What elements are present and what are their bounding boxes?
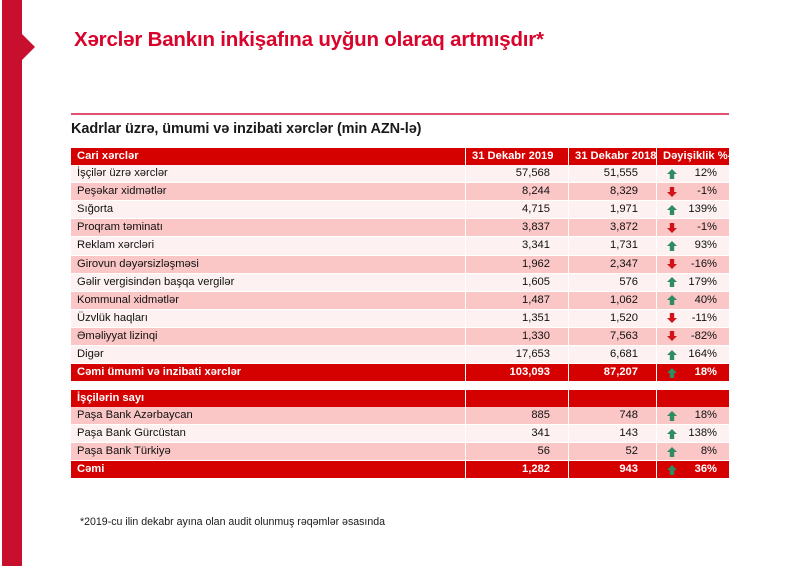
table-row: Reklam xərcləri3,3411,73193% <box>71 237 729 255</box>
total-label: Cəmi <box>71 461 466 478</box>
table-row: Proqram təminatı3,8373,872-1% <box>71 219 729 237</box>
column-header: 31 Dekabr 2018 <box>569 148 657 165</box>
cell-2018: 1,731 <box>569 237 657 255</box>
table-header-row: İşçilərin sayı <box>71 390 729 407</box>
column-header: Cari xərclər <box>71 148 466 165</box>
cell-2019: 1,962 <box>466 256 569 274</box>
left-accent-arrow-icon <box>22 34 35 60</box>
column-header <box>657 390 729 407</box>
cell-2019: 1,351 <box>466 310 569 328</box>
row-label: Proqram təminatı <box>71 219 466 237</box>
change-value: 93% <box>681 237 729 254</box>
cell-change: -1% <box>657 219 729 237</box>
cell-2018: 576 <box>569 274 657 292</box>
cell-2019: 56 <box>466 443 569 461</box>
cell-2018: 1,971 <box>569 201 657 219</box>
cell-2019: 1,330 <box>466 328 569 346</box>
cell-change: 138% <box>657 425 729 443</box>
change-value: -11% <box>681 310 729 327</box>
section-heading: Kadrlar üzrə, ümumi və inzibati xərclər … <box>71 121 421 137</box>
cell-2018: 6,681 <box>569 346 657 364</box>
column-header: İşçilərin sayı <box>71 390 466 407</box>
cell-change: 18% <box>657 407 729 425</box>
arrow-up-icon <box>663 428 681 440</box>
total-label: Cəmi ümumi və inzibati xərclər <box>71 364 466 381</box>
change-value: 36% <box>681 461 729 478</box>
cell-change: 12% <box>657 165 729 183</box>
change-value: -82% <box>681 328 729 345</box>
change-value: 164% <box>681 346 729 363</box>
table-row: Girovun dəyərsizləşməsi1,9622,347-16% <box>71 256 729 274</box>
headcount-table-body: İşçilərin sayıPaşa Bank Azərbaycan885748… <box>71 390 729 478</box>
total-change: 36% <box>657 461 729 478</box>
table-row: Paşa Bank Gürcüstan341143138% <box>71 425 729 443</box>
cell-2018: 748 <box>569 407 657 425</box>
change-value: 8% <box>681 443 729 460</box>
total-2019: 103,093 <box>466 364 569 381</box>
table-row: Paşa Bank Türkiyə56528% <box>71 443 729 461</box>
arrow-down-icon <box>663 258 681 270</box>
cell-2019: 57,568 <box>466 165 569 183</box>
cell-2018: 3,872 <box>569 219 657 237</box>
table-row: Paşa Bank Azərbaycan88574818% <box>71 407 729 425</box>
cell-2018: 143 <box>569 425 657 443</box>
row-label: Kommunal xidmətlər <box>71 292 466 310</box>
change-value: 138% <box>681 425 729 442</box>
cell-change: 139% <box>657 201 729 219</box>
arrow-up-icon <box>663 446 681 458</box>
cell-2018: 2,347 <box>569 256 657 274</box>
cell-2018: 8,329 <box>569 183 657 201</box>
total-change: 18% <box>657 364 729 381</box>
cell-2019: 8,244 <box>466 183 569 201</box>
change-value: -16% <box>681 256 729 273</box>
table-row: Peşəkar xidmətlər8,2448,329-1% <box>71 183 729 201</box>
column-header: Dəyişiklik %-i <box>657 148 729 165</box>
row-label: Üzvlük haqları <box>71 310 466 328</box>
section-divider <box>71 113 729 115</box>
arrow-down-icon <box>663 222 681 234</box>
arrow-up-icon <box>663 204 681 216</box>
cell-2018: 51,555 <box>569 165 657 183</box>
change-value: 179% <box>681 274 729 291</box>
left-accent-bar <box>2 0 22 566</box>
arrow-up-icon <box>663 367 681 379</box>
change-value: -1% <box>681 183 729 200</box>
cell-2019: 1,605 <box>466 274 569 292</box>
arrow-down-icon <box>663 330 681 342</box>
change-value: 18% <box>681 407 729 424</box>
cell-2019: 1,487 <box>466 292 569 310</box>
cell-change: 40% <box>657 292 729 310</box>
arrow-up-icon <box>663 168 681 180</box>
cell-change: -16% <box>657 256 729 274</box>
change-value: 40% <box>681 292 729 309</box>
expenses-table-body: Cari xərclər31 Dekabr 201931 Dekabr 2018… <box>71 148 729 381</box>
table-header-row: Cari xərclər31 Dekabr 201931 Dekabr 2018… <box>71 148 729 165</box>
cell-change: 179% <box>657 274 729 292</box>
cell-2019: 17,653 <box>466 346 569 364</box>
cell-change: 8% <box>657 443 729 461</box>
table-row: Sığorta4,7151,971139% <box>71 201 729 219</box>
cell-2018: 7,563 <box>569 328 657 346</box>
arrow-up-icon <box>663 349 681 361</box>
cell-2019: 3,837 <box>466 219 569 237</box>
table-row: Kommunal xidmətlər1,4871,06240% <box>71 292 729 310</box>
arrow-up-icon <box>663 410 681 422</box>
row-label: Əməliyyat lizinqi <box>71 328 466 346</box>
row-label: Gəlir vergisindən başqa vergilər <box>71 274 466 292</box>
column-header <box>466 390 569 407</box>
column-header: 31 Dekabr 2019 <box>466 148 569 165</box>
table-row: İşçilər üzrə xərclər57,56851,55512% <box>71 165 729 183</box>
table-row: Gəlir vergisindən başqa vergilər1,605576… <box>71 274 729 292</box>
cell-change: -11% <box>657 310 729 328</box>
change-value: -1% <box>681 219 729 236</box>
cell-2018: 52 <box>569 443 657 461</box>
headcount-table: İşçilərin sayıPaşa Bank Azərbaycan885748… <box>71 390 729 478</box>
arrow-up-icon <box>663 464 681 476</box>
total-2018: 943 <box>569 461 657 478</box>
cell-2019: 3,341 <box>466 237 569 255</box>
cell-2019: 885 <box>466 407 569 425</box>
total-2018: 87,207 <box>569 364 657 381</box>
row-label: Reklam xərcləri <box>71 237 466 255</box>
change-value: 139% <box>681 201 729 218</box>
row-label: Peşəkar xidmətlər <box>71 183 466 201</box>
arrow-up-icon <box>663 276 681 288</box>
row-label: Digər <box>71 346 466 364</box>
cell-2019: 4,715 <box>466 201 569 219</box>
table-row: Üzvlük haqları1,3511,520-11% <box>71 310 729 328</box>
table-row: Əməliyyat lizinqi1,3307,563-82% <box>71 328 729 346</box>
footnote: *2019-cu ilin dekabr ayına olan audit ol… <box>80 516 385 528</box>
change-value: 12% <box>681 165 729 182</box>
expenses-table: Cari xərclər31 Dekabr 201931 Dekabr 2018… <box>71 148 729 381</box>
row-label: Paşa Bank Gürcüstan <box>71 425 466 443</box>
arrow-up-icon <box>663 240 681 252</box>
cell-change: -1% <box>657 183 729 201</box>
row-label: Paşa Bank Türkiyə <box>71 443 466 461</box>
cell-change: 93% <box>657 237 729 255</box>
row-label: Sığorta <box>71 201 466 219</box>
cell-change: -82% <box>657 328 729 346</box>
cell-2018: 1,062 <box>569 292 657 310</box>
column-header <box>569 390 657 407</box>
arrow-down-icon <box>663 312 681 324</box>
table-total-row: Cəmi1,28294336% <box>71 461 729 478</box>
row-label: Paşa Bank Azərbaycan <box>71 407 466 425</box>
slide-title: Xərclər Bankın inkişafına uyğun olaraq a… <box>74 28 754 53</box>
row-label: Girovun dəyərsizləşməsi <box>71 256 466 274</box>
cell-change: 164% <box>657 346 729 364</box>
arrow-down-icon <box>663 186 681 198</box>
arrow-up-icon <box>663 294 681 306</box>
cell-2018: 1,520 <box>569 310 657 328</box>
table-row: Digər17,6536,681164% <box>71 346 729 364</box>
table-total-row: Cəmi ümumi və inzibati xərclər103,09387,… <box>71 364 729 381</box>
row-label: İşçilər üzrə xərclər <box>71 165 466 183</box>
cell-2019: 341 <box>466 425 569 443</box>
change-value: 18% <box>681 364 729 381</box>
total-2019: 1,282 <box>466 461 569 478</box>
